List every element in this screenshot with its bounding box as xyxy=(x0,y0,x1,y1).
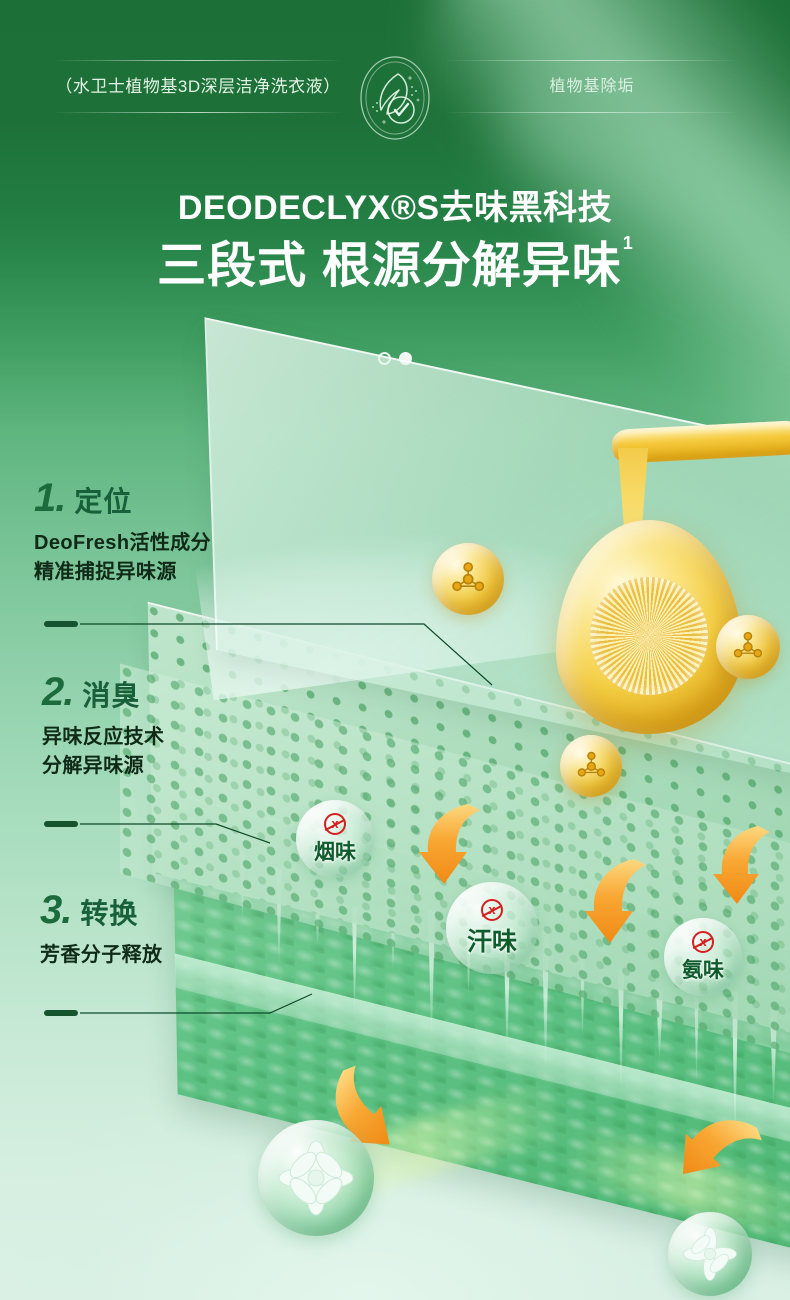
step-block-2: 2.消臭 异味反应技术 分解异味源 xyxy=(42,672,164,781)
flower-icon xyxy=(274,1136,358,1220)
molecule-icon xyxy=(730,629,766,665)
step-description-line1: DeoFresh活性成分 xyxy=(34,529,211,558)
odor-badge-ammonia: x 氨味 xyxy=(664,918,742,996)
molecule-icon xyxy=(574,749,609,784)
odor-badge-sweat: x 汗味 xyxy=(446,882,538,974)
no-entry-icon: x xyxy=(692,931,714,953)
flower-icon xyxy=(680,1224,740,1284)
no-entry-icon: x xyxy=(324,813,346,835)
odor-badge-label: 汗味 xyxy=(467,922,517,958)
step-heading: 3.转换 xyxy=(40,890,162,930)
step-block-1: 1.定位 DeoFresh活性成分 精准捕捉异味源 xyxy=(34,478,211,587)
step-number: 3. xyxy=(40,888,71,932)
product-infographic-page: （水卫士植物基3D深层洁净洗衣液） 植物基除垢 DEODECLYX®S去味黑科技… xyxy=(0,0,790,1300)
fragrance-bubble-right xyxy=(668,1212,752,1296)
molecule-bubble-lower xyxy=(560,735,622,797)
step-number: 2. xyxy=(42,670,73,714)
flow-arrow-2 xyxy=(584,855,662,952)
step-description-line2: 分解异味源 xyxy=(42,752,164,781)
molecule-icon xyxy=(448,559,488,599)
step-description: 芳香分子释放 xyxy=(40,941,162,970)
step-heading: 2.消臭 xyxy=(42,672,164,712)
odor-badge-label: 氨味 xyxy=(682,954,724,984)
no-entry-icon: x xyxy=(481,899,503,921)
fragrance-bubble-left xyxy=(258,1120,374,1236)
step-description: 异味反应技术 分解异味源 xyxy=(42,723,164,781)
step-number: 1. xyxy=(34,476,65,520)
molecule-bubble-left xyxy=(432,543,504,615)
leader-dash xyxy=(44,821,78,827)
flow-arrow-3 xyxy=(712,822,784,913)
leader-dash xyxy=(44,621,78,627)
molecule-bubble-right xyxy=(716,615,780,679)
step-title: 转换 xyxy=(80,898,138,929)
step-heading: 1.定位 xyxy=(34,478,211,518)
step-description-line1: 芳香分子释放 xyxy=(40,941,162,970)
step-title: 消臭 xyxy=(82,680,140,711)
flow-arrow-1 xyxy=(418,800,496,893)
step-block-3: 3.转换 芳香分子释放 xyxy=(40,890,162,970)
step-description-line1: 异味反应技术 xyxy=(42,723,164,752)
step-description: DeoFresh活性成分 精准捕捉异味源 xyxy=(34,529,211,587)
odor-badge-label: 烟味 xyxy=(314,836,356,866)
step-description-line2: 精准捕捉异味源 xyxy=(34,558,211,587)
leader-dash xyxy=(44,1010,78,1016)
step-title: 定位 xyxy=(74,486,132,517)
odor-badge-smoke: x 烟味 xyxy=(296,800,374,878)
